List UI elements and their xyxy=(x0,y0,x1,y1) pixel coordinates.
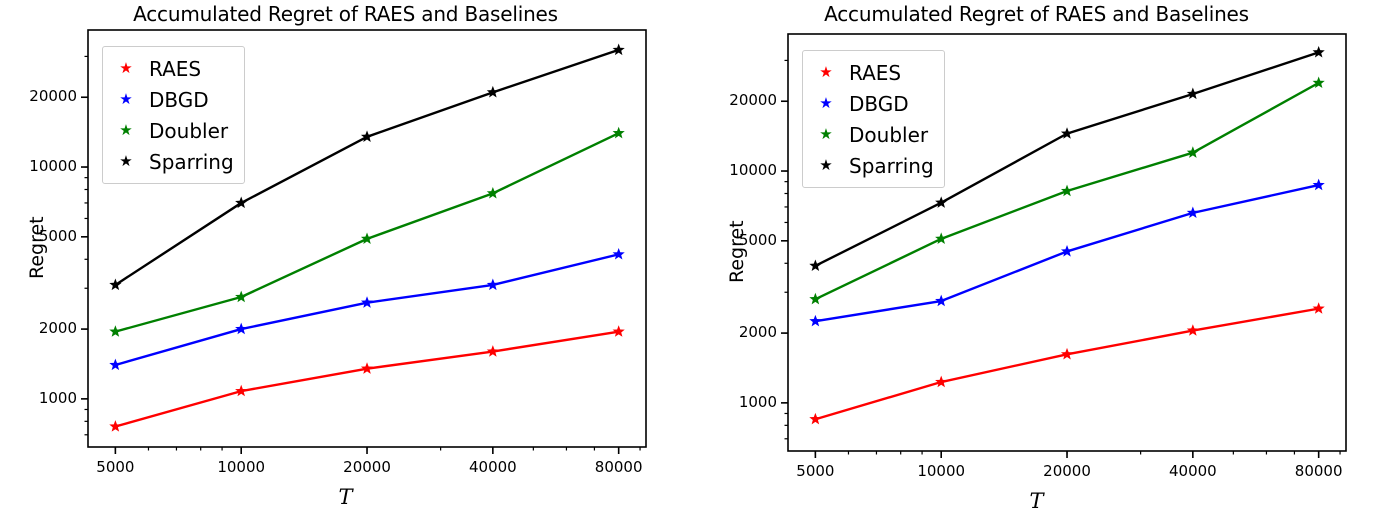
y-tick-label: 10000 xyxy=(729,161,777,179)
data-point-raes xyxy=(1187,324,1199,336)
legend-label: Sparring xyxy=(843,154,934,178)
x-tick-label: 20000 xyxy=(322,458,412,476)
x-tick-label: 80000 xyxy=(1274,462,1364,480)
legend-star-icon: ★ xyxy=(809,158,843,173)
data-point-doubler xyxy=(487,187,499,199)
legend-star-icon: ★ xyxy=(809,127,843,142)
legend-item-sparring[interactable]: ★Sparring xyxy=(809,150,934,181)
data-point-raes xyxy=(1313,302,1325,314)
y-tick-label: 10000 xyxy=(29,157,77,175)
data-point-doubler xyxy=(235,291,247,303)
data-point-doubler xyxy=(109,325,121,337)
y-tick-label: 5000 xyxy=(39,227,77,245)
data-point-sparring xyxy=(487,86,499,98)
legend-label: DBGD xyxy=(843,92,909,116)
data-point-raes xyxy=(487,345,499,357)
data-point-raes xyxy=(1061,348,1073,360)
y-tick-label: 1000 xyxy=(739,393,777,411)
x-axis-label: T xyxy=(0,485,691,509)
data-point-doubler xyxy=(935,232,947,244)
x-axis-label: T xyxy=(691,489,1382,513)
y-tick-label: 2000 xyxy=(739,323,777,341)
legend-item-raes[interactable]: ★RAES xyxy=(809,57,934,88)
x-tick-label: 5000 xyxy=(770,462,860,480)
legend-label: RAES xyxy=(143,57,201,81)
data-point-doubler xyxy=(361,232,373,244)
data-point-raes xyxy=(109,420,121,432)
data-point-dbgd xyxy=(487,279,499,291)
legend-label: Sparring xyxy=(143,150,234,174)
data-point-raes xyxy=(361,362,373,374)
data-point-raes xyxy=(613,325,625,337)
y-tick-label: 2000 xyxy=(39,319,77,337)
data-point-dbgd xyxy=(935,295,947,307)
data-point-sparring xyxy=(109,279,121,291)
legend-item-doubler[interactable]: ★Doubler xyxy=(809,119,934,150)
legend-label: DBGD xyxy=(143,88,209,112)
x-tick-label: 40000 xyxy=(1148,462,1238,480)
data-point-dbgd xyxy=(361,296,373,308)
x-tick-label: 10000 xyxy=(896,462,986,480)
series-line-raes xyxy=(115,332,618,427)
x-tick-label: 10000 xyxy=(196,458,286,476)
legend-label: RAES xyxy=(843,61,901,85)
legend-star-icon: ★ xyxy=(109,61,143,76)
y-tick-label: 20000 xyxy=(29,87,77,105)
legend-star-icon: ★ xyxy=(109,92,143,107)
y-tick-label: 5000 xyxy=(739,231,777,249)
data-point-dbgd xyxy=(109,359,121,371)
legend-label: Doubler xyxy=(143,119,228,143)
chart-panel-left: Accumulated Regret of RAES and Baselines… xyxy=(0,0,691,498)
data-point-doubler xyxy=(1187,146,1199,158)
data-point-dbgd xyxy=(1187,206,1199,218)
legend-star-icon: ★ xyxy=(109,154,143,169)
legend-label: Doubler xyxy=(843,123,928,147)
x-tick-label: 5000 xyxy=(70,458,160,476)
legend: ★RAES★DBGD★Doubler★Sparring xyxy=(802,50,945,188)
data-point-raes xyxy=(809,413,821,425)
x-tick-label: 80000 xyxy=(574,458,664,476)
legend-star-icon: ★ xyxy=(109,123,143,138)
y-axis-label: Regret xyxy=(26,216,48,279)
data-point-sparring xyxy=(1313,46,1325,58)
legend-item-doubler[interactable]: ★Doubler xyxy=(109,115,234,146)
y-tick-label: 1000 xyxy=(39,389,77,407)
data-point-dbgd xyxy=(1313,179,1325,191)
data-point-dbgd xyxy=(1061,245,1073,257)
data-point-dbgd xyxy=(613,248,625,260)
data-point-sparring xyxy=(1187,88,1199,100)
y-tick-label: 20000 xyxy=(729,91,777,109)
data-point-dbgd xyxy=(235,323,247,335)
data-point-doubler xyxy=(613,127,625,139)
legend-item-dbgd[interactable]: ★DBGD xyxy=(809,88,934,119)
legend-star-icon: ★ xyxy=(809,65,843,80)
legend: ★RAES★DBGD★Doubler★Sparring xyxy=(102,46,245,184)
legend-item-sparring[interactable]: ★Sparring xyxy=(109,146,234,177)
legend-item-raes[interactable]: ★RAES xyxy=(109,53,234,84)
y-axis-label: Regret xyxy=(726,220,748,283)
x-tick-label: 40000 xyxy=(448,458,538,476)
data-point-doubler xyxy=(1061,185,1073,197)
legend-item-dbgd[interactable]: ★DBGD xyxy=(109,84,234,115)
figure-canvas: Accumulated Regret of RAES and Baselines… xyxy=(0,0,1382,498)
series-line-raes xyxy=(815,309,1318,420)
chart-panel-right: Accumulated Regret of RAES and Baselines… xyxy=(691,0,1382,498)
plot-area-right xyxy=(691,0,1382,498)
data-point-dbgd xyxy=(809,315,821,327)
x-tick-label: 20000 xyxy=(1022,462,1112,480)
data-point-raes xyxy=(935,376,947,388)
legend-star-icon: ★ xyxy=(809,96,843,111)
data-point-sparring xyxy=(613,44,625,56)
data-point-raes xyxy=(235,385,247,397)
data-point-doubler xyxy=(809,293,821,305)
data-point-sparring xyxy=(809,259,821,271)
